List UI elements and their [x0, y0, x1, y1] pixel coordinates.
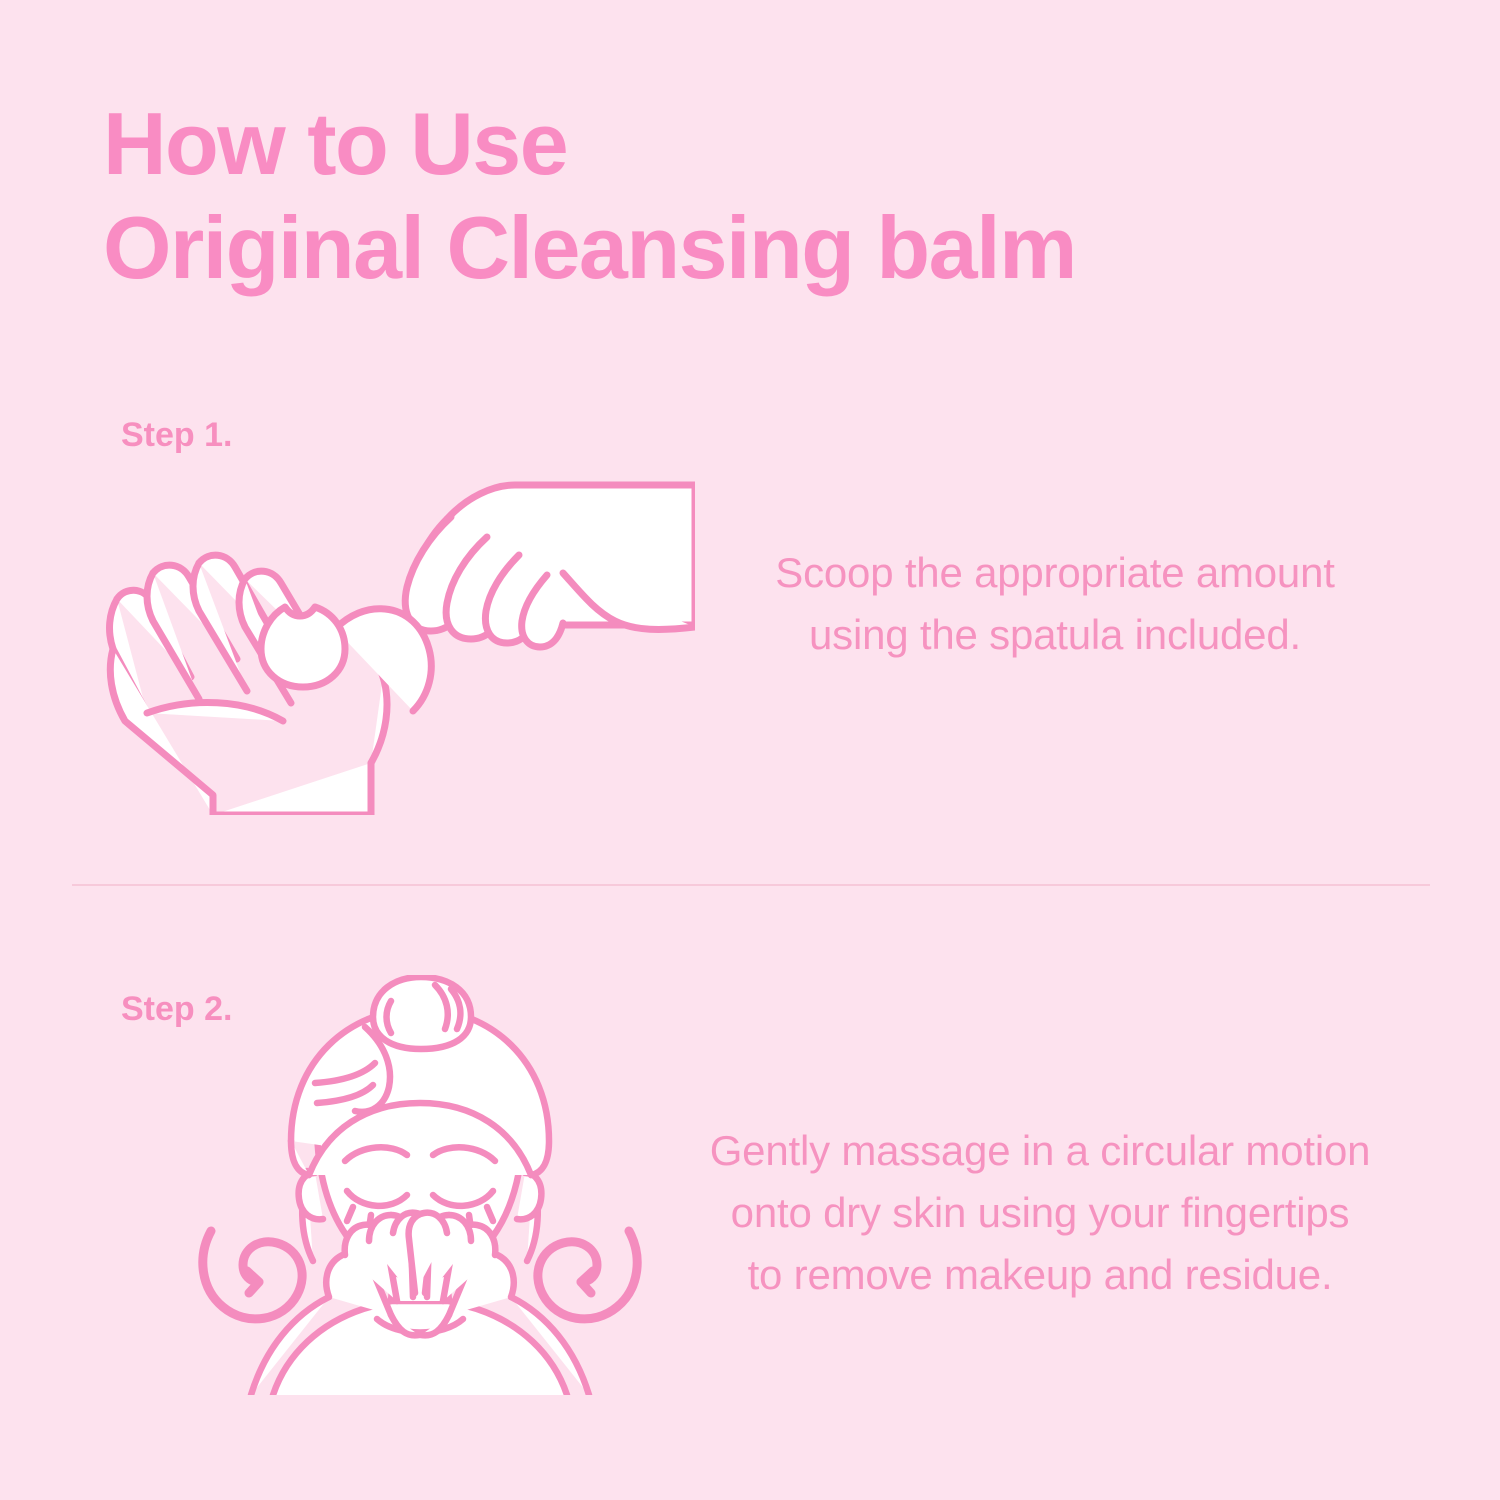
woman-massaging-face-with-hair-towel-icon [195, 975, 645, 1400]
step-2-section: Step 2. [0, 965, 1500, 1415]
step-1-text-line-2: using the spatula included. [705, 604, 1405, 666]
step-1-text-line-1: Scoop the appropriate amount [705, 542, 1405, 604]
step-2-text-line-3: to remove makeup and residue. [660, 1244, 1420, 1306]
page-title-line-2: Original Cleansing balm [103, 196, 1303, 300]
how-to-use-infographic: How to Use Original Cleansing balm Step … [0, 0, 1500, 1500]
page-title-line-1: How to Use [103, 92, 1303, 196]
step-2-description: Gently massage in a circular motion onto… [660, 1120, 1420, 1306]
step-2-text-line-1: Gently massage in a circular motion [660, 1120, 1420, 1182]
step-2-text-line-2: onto dry skin using your fingertips [660, 1182, 1420, 1244]
page-title: How to Use Original Cleansing balm [103, 92, 1303, 300]
section-divider [72, 884, 1430, 886]
step-1-description: Scoop the appropriate amount using the s… [705, 542, 1405, 666]
hands-scooping-balm-with-spatula-icon [95, 445, 695, 820]
step-1-section: Step 1. [0, 400, 1500, 840]
